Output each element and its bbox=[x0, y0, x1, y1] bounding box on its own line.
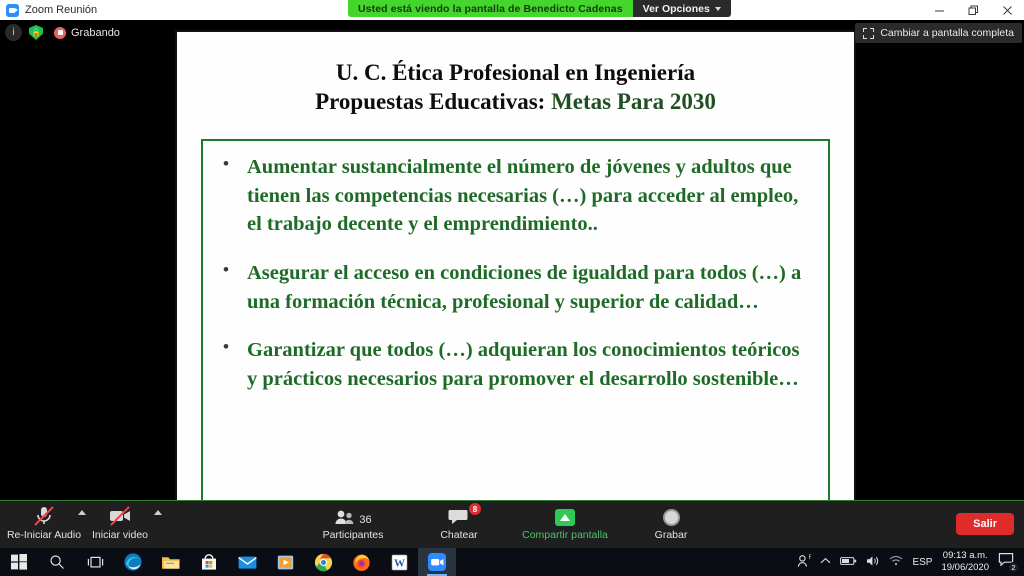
view-options-button[interactable]: Ver Opciones bbox=[633, 0, 731, 17]
chat-button[interactable]: 8 Chatear bbox=[421, 505, 497, 541]
zoom-toolbar: Re-Iniciar Audio Iniciar video bbox=[0, 500, 1024, 548]
info-icon[interactable]: i bbox=[5, 24, 22, 41]
shield-lock-icon[interactable]: 🔒 bbox=[29, 25, 43, 40]
share-screen-button[interactable]: Compartir pantalla bbox=[527, 505, 603, 541]
meeting-content-area: i 🔒 Grabando Cambiar a pantalla completa… bbox=[0, 20, 1024, 500]
windows-taskbar: W R bbox=[0, 548, 1024, 576]
participants-button[interactable]: 36 Participantes bbox=[315, 505, 391, 541]
share-banner-message: Usted está viendo la pantalla de Benedic… bbox=[348, 0, 633, 17]
participants-label: Participantes bbox=[323, 529, 384, 541]
window-titlebar: Zoom Reunión Usted está viendo la pantal… bbox=[0, 0, 1024, 20]
shared-slide: U. C. Ética Profesional en Ingeniería Pr… bbox=[175, 30, 856, 510]
chat-bubble-icon: 8 bbox=[448, 505, 470, 526]
recording-dot-icon bbox=[54, 27, 66, 39]
slide-bullet-item: Asegurar el acceso en condiciones de igu… bbox=[213, 259, 814, 316]
slide-title-accent: Metas Para 2030 bbox=[551, 89, 716, 114]
close-button[interactable] bbox=[990, 0, 1024, 20]
recording-label: Grabando bbox=[71, 27, 120, 39]
record-button[interactable]: Grabar bbox=[633, 505, 709, 541]
clock[interactable]: 09:13 a.m. 19/06/2020 bbox=[941, 550, 989, 573]
action-center-icon[interactable]: 2 bbox=[998, 552, 1018, 572]
window-title: Zoom Reunión bbox=[25, 4, 97, 16]
search-icon[interactable] bbox=[38, 548, 76, 576]
chat-unread-badge: 8 bbox=[469, 503, 481, 515]
mail-icon[interactable] bbox=[228, 548, 266, 576]
windows-start-icon[interactable] bbox=[0, 548, 38, 576]
chrome-icon[interactable] bbox=[304, 548, 342, 576]
svg-text:W: W bbox=[394, 557, 405, 569]
slide-title: U. C. Ética Profesional en Ingeniería Pr… bbox=[177, 58, 854, 117]
slide-title-line-2: Propuestas Educativas: Metas Para 2030 bbox=[177, 87, 854, 116]
wifi-icon[interactable] bbox=[889, 555, 903, 569]
firefox-icon[interactable] bbox=[342, 548, 380, 576]
slide-title-line-2-plain: Propuestas Educativas: bbox=[315, 89, 551, 114]
slide-bullet-item: Garantizar que todos (…) adquieran los c… bbox=[213, 336, 814, 393]
slide-bullet-list: Aumentar sustancialmente el número de jó… bbox=[213, 153, 814, 394]
meeting-status-bar: i 🔒 Grabando bbox=[5, 24, 120, 41]
minimize-button[interactable] bbox=[922, 0, 956, 20]
task-view-icon[interactable] bbox=[76, 548, 114, 576]
svg-text:R: R bbox=[809, 555, 812, 561]
participants-count: 36 bbox=[359, 514, 371, 526]
people-icon: 36 bbox=[334, 505, 371, 526]
window-controls bbox=[922, 0, 1024, 20]
slide-title-line-1: U. C. Ética Profesional en Ingeniería bbox=[177, 58, 854, 87]
record-label: Grabar bbox=[655, 529, 688, 541]
zoom-logo-icon bbox=[6, 4, 19, 17]
edge-icon[interactable] bbox=[114, 548, 152, 576]
slide-bullet-box: Aumentar sustancialmente el número de jó… bbox=[201, 139, 830, 510]
system-tray: R bbox=[797, 548, 1024, 576]
taskbar-apps: W bbox=[0, 548, 456, 576]
language-indicator[interactable]: ESP bbox=[912, 557, 932, 568]
show-hidden-icons-icon[interactable] bbox=[820, 557, 831, 568]
chevron-down-icon bbox=[715, 7, 721, 11]
record-circle-icon bbox=[663, 505, 680, 526]
enter-fullscreen-button[interactable]: Cambiar a pantalla completa bbox=[855, 23, 1022, 43]
battery-icon[interactable] bbox=[840, 556, 857, 569]
clock-time: 09:13 a.m. bbox=[941, 550, 989, 562]
recording-indicator[interactable]: Grabando bbox=[54, 27, 120, 39]
zoom-meeting-window: Zoom Reunión Usted está viendo la pantal… bbox=[0, 0, 1024, 576]
fullscreen-expand-icon bbox=[863, 28, 874, 39]
movies-tv-icon[interactable] bbox=[266, 548, 304, 576]
screen-share-banner: Usted está viendo la pantalla de Benedic… bbox=[348, 0, 731, 17]
view-options-label: Ver Opciones bbox=[643, 3, 710, 15]
titlebar-left: Zoom Reunión bbox=[0, 4, 97, 17]
maximize-restore-button[interactable] bbox=[956, 0, 990, 20]
word-icon[interactable]: W bbox=[380, 548, 418, 576]
microsoft-store-icon[interactable] bbox=[190, 548, 228, 576]
exit-meeting-button[interactable]: Salir bbox=[956, 513, 1014, 535]
share-screen-icon bbox=[555, 505, 575, 526]
slide-bullet-item: Aumentar sustancialmente el número de jó… bbox=[213, 153, 814, 239]
people-share-icon[interactable]: R bbox=[797, 554, 811, 571]
clock-date: 19/06/2020 bbox=[941, 562, 989, 574]
toolbar-center-group: 36 Participantes 8 Chatear Compartir pan… bbox=[0, 505, 1024, 541]
notification-count-badge: 2 bbox=[1008, 562, 1019, 573]
file-explorer-icon[interactable] bbox=[152, 548, 190, 576]
volume-icon[interactable] bbox=[866, 555, 880, 570]
fullscreen-label: Cambiar a pantalla completa bbox=[880, 27, 1014, 39]
zoom-taskbar-icon[interactable] bbox=[418, 548, 456, 576]
chat-label: Chatear bbox=[440, 529, 477, 541]
share-screen-label: Compartir pantalla bbox=[522, 529, 608, 541]
